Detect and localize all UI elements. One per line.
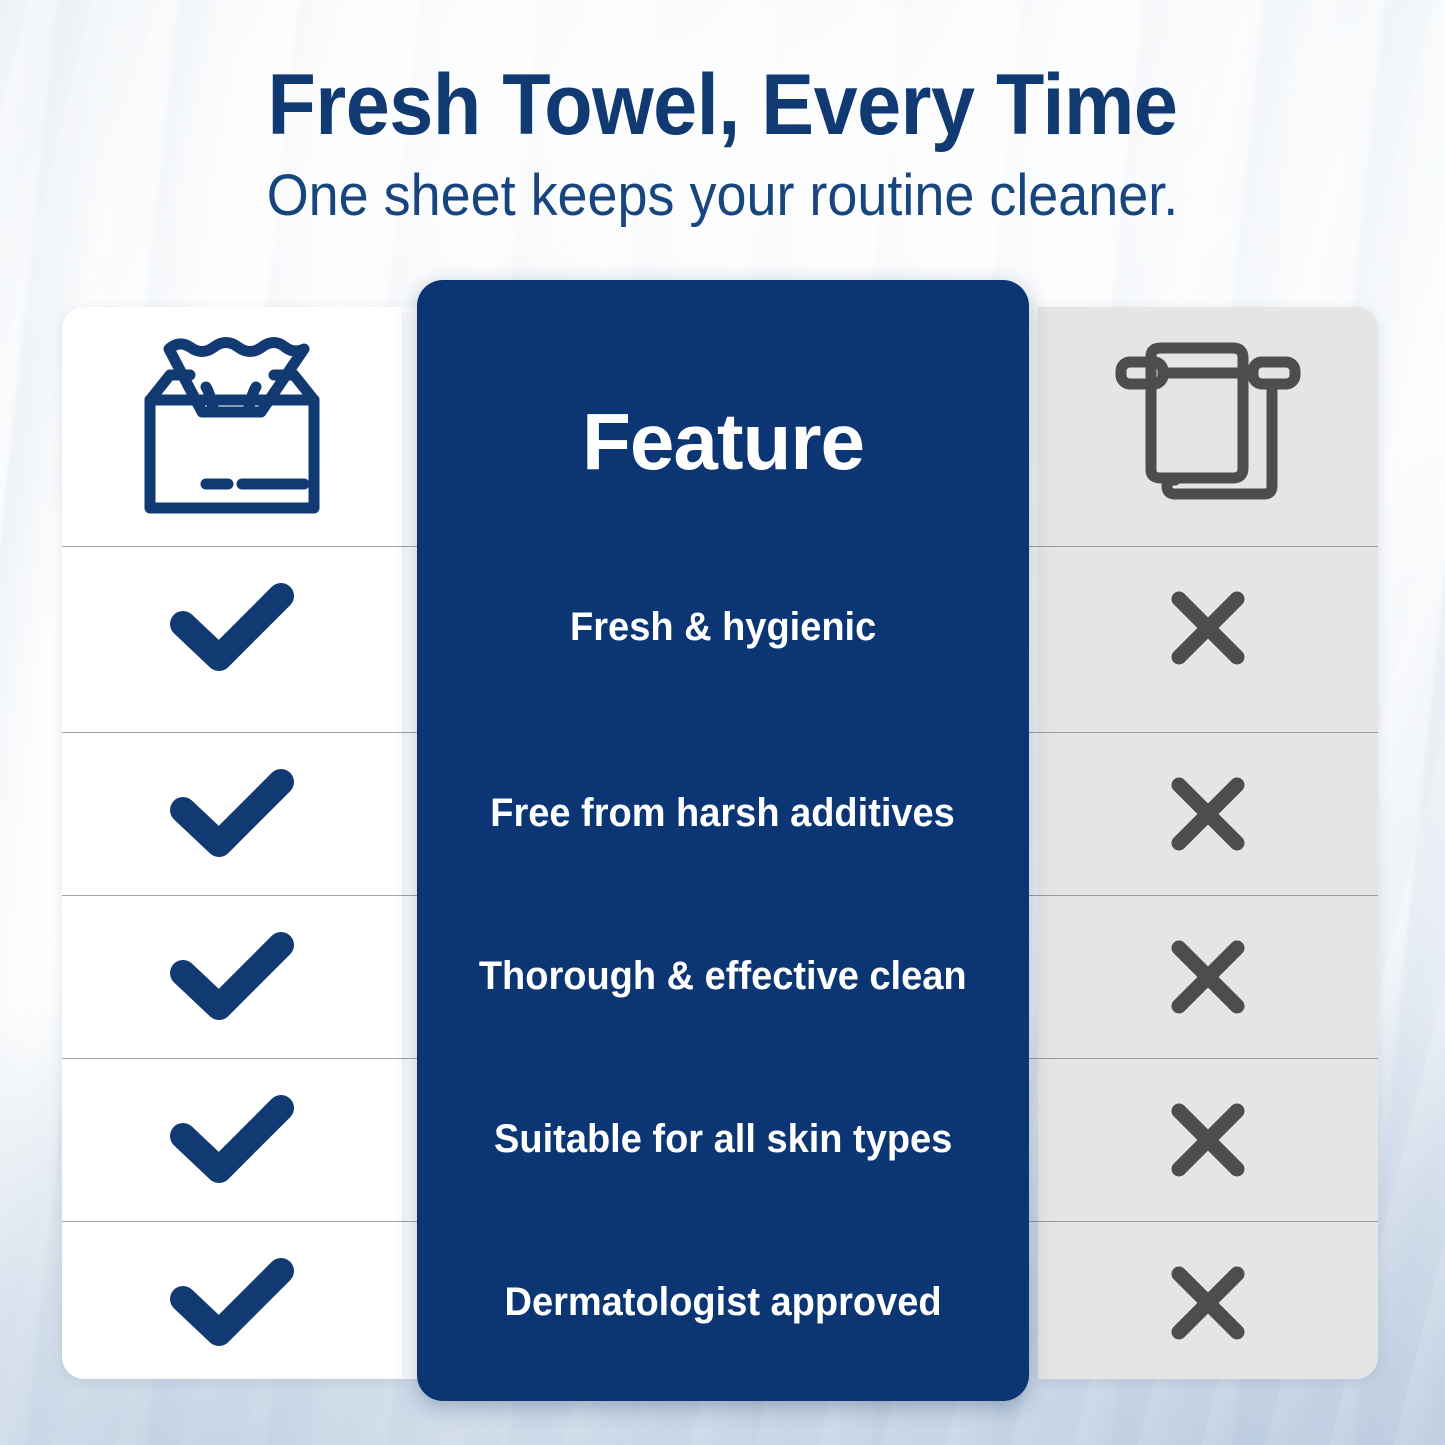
left-column-header-cell (62, 307, 402, 546)
tissue-box-icon (122, 329, 342, 524)
right-mark-cell (1038, 546, 1378, 709)
feature-row: Free from harsh additives (417, 732, 1029, 895)
feature-label: Dermatologist approved (504, 1280, 941, 1325)
infographic-page: Fresh Towel, Every Time One sheet keeps … (0, 0, 1445, 1445)
check-icon (167, 766, 297, 862)
feature-row: Dermatologist approved (417, 1221, 1029, 1384)
feature-label: Fresh & hygienic (570, 605, 876, 650)
right-mark-cell (1038, 1058, 1378, 1221)
feature-label: Suitable for all skin types (494, 1117, 952, 1162)
cross-icon (1165, 585, 1251, 671)
left-mark-cell (62, 895, 402, 1058)
check-icon (167, 580, 297, 676)
check-icon (167, 1092, 297, 1188)
feature-row: Suitable for all skin types (417, 1058, 1029, 1221)
feature-column-title: Feature (417, 396, 1029, 488)
feature-label: Thorough & effective clean (479, 954, 967, 999)
page-subtitle: One sheet keeps your routine cleaner. (51, 166, 1395, 227)
cross-icon (1165, 771, 1251, 857)
page-title: Fresh Towel, Every Time (58, 62, 1387, 150)
left-mark-cell (62, 1221, 402, 1384)
check-icon (167, 929, 297, 1025)
feature-row: Fresh & hygienic (417, 546, 1029, 709)
right-mark-cell (1038, 1221, 1378, 1384)
left-mark-cell (62, 546, 402, 709)
right-mark-cell (1038, 732, 1378, 895)
cross-icon (1165, 934, 1251, 1020)
left-mark-cell (62, 1058, 402, 1221)
feature-row: Thorough & effective clean (417, 895, 1029, 1058)
header: Fresh Towel, Every Time One sheet keeps … (0, 62, 1445, 227)
feature-column-card: Feature Fresh & hygienic Free from harsh… (417, 280, 1029, 1401)
feature-label: Free from harsh additives (491, 791, 956, 836)
cross-icon (1165, 1097, 1251, 1183)
right-mark-cell (1038, 895, 1378, 1058)
right-column-header-cell (1038, 307, 1378, 546)
towel-on-rail-icon (1103, 334, 1313, 519)
left-mark-cell (62, 732, 402, 895)
check-icon (167, 1255, 297, 1351)
cross-icon (1165, 1260, 1251, 1346)
comparison-table: Feature Fresh & hygienic Free from harsh… (62, 307, 1378, 1379)
